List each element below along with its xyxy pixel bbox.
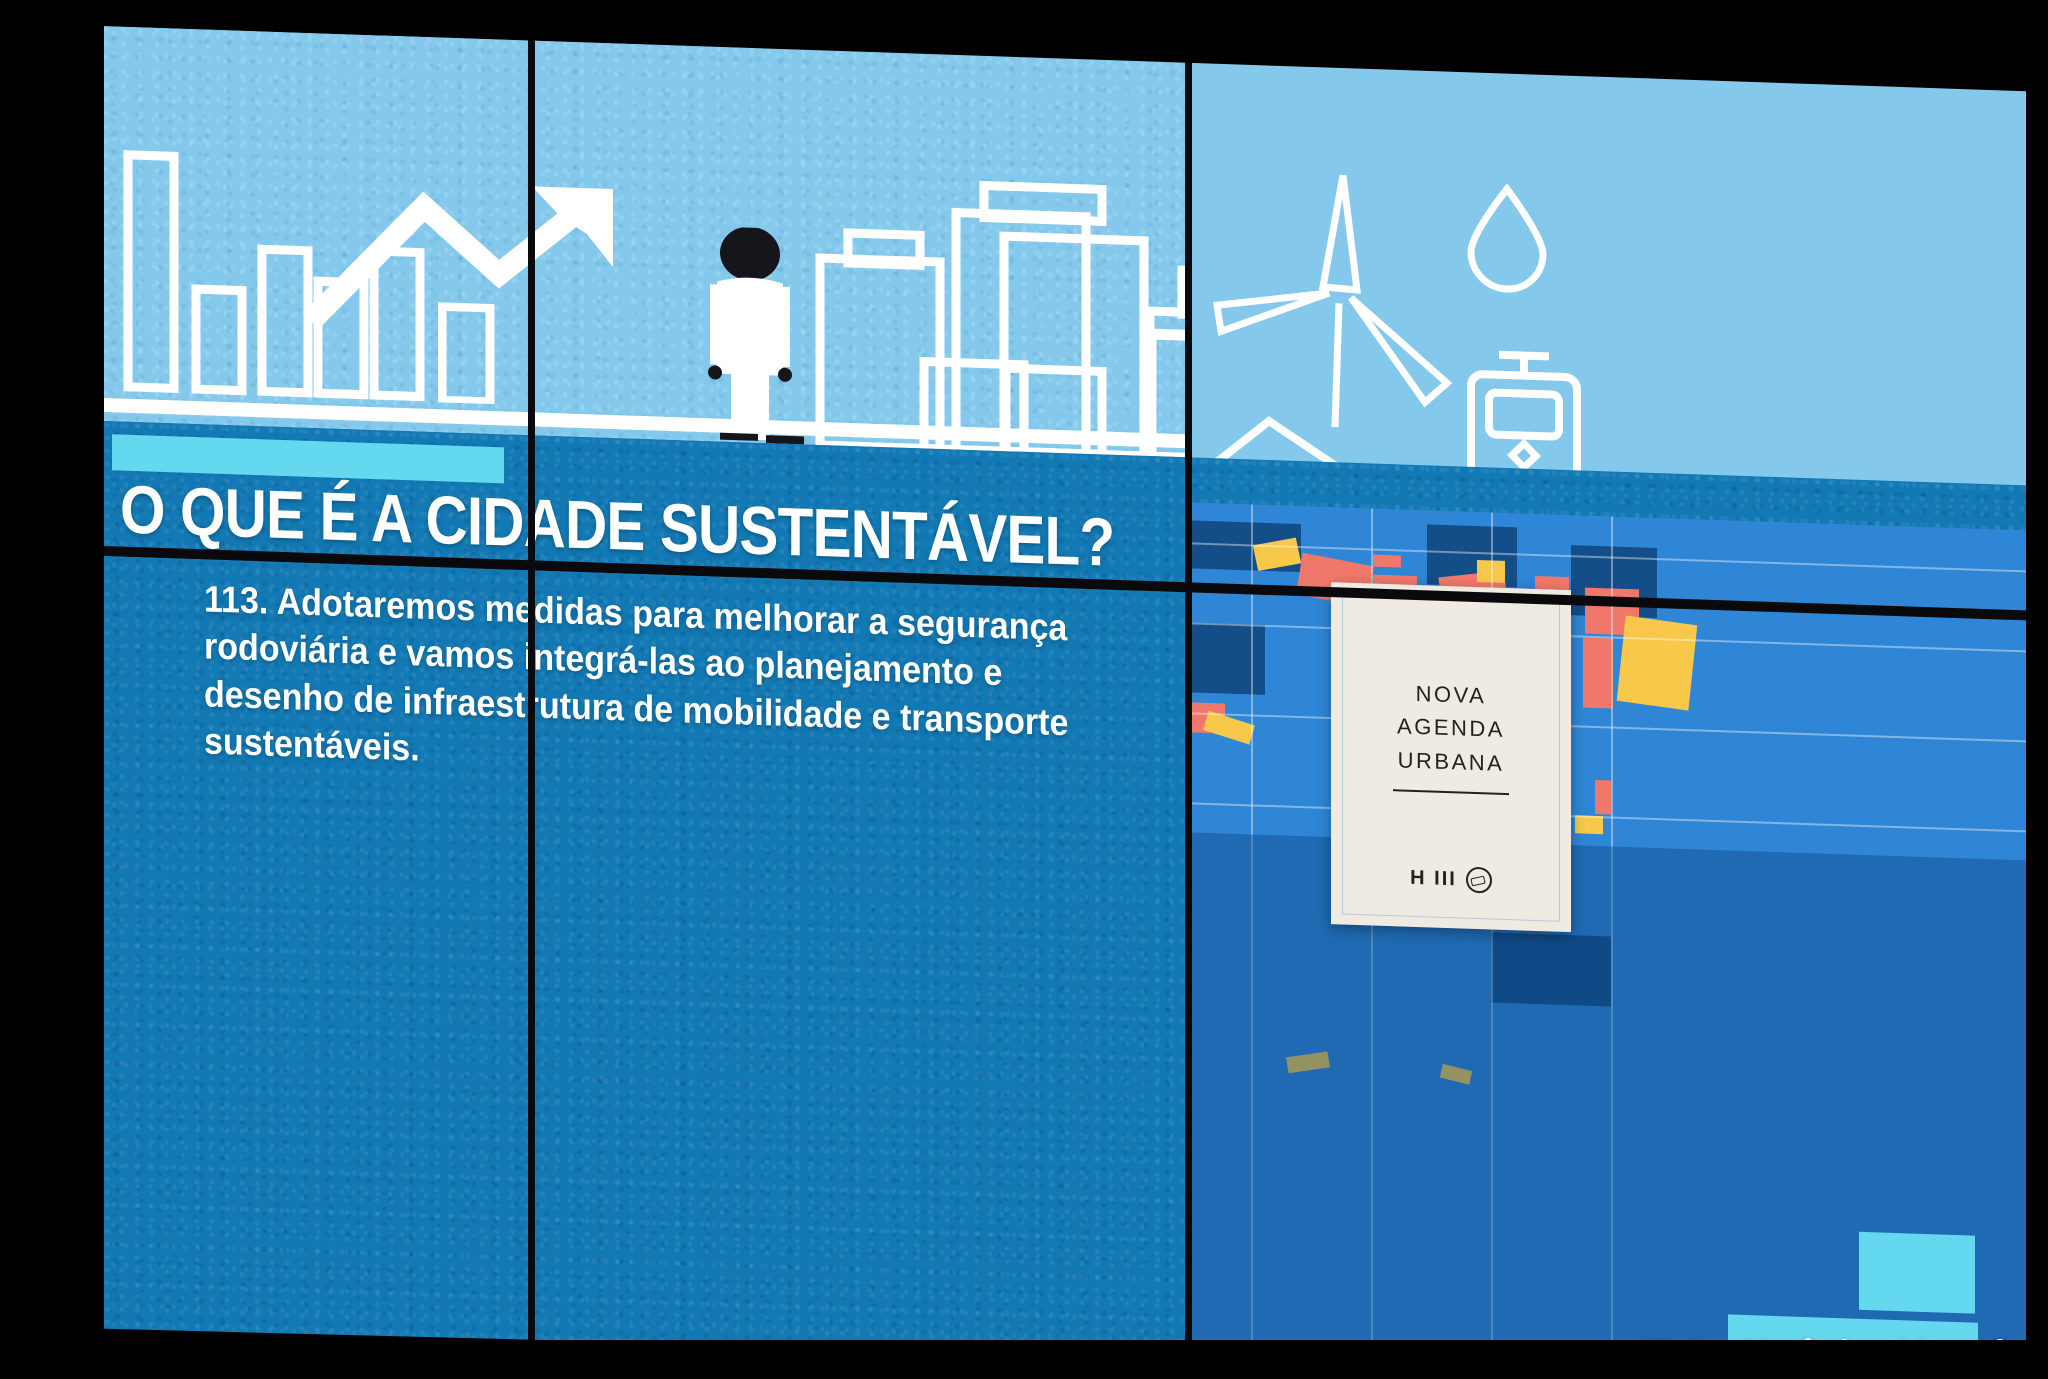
wall-screen-content: O QUE É A CIDADE SUSTENTÁVEL? 113. Adota… (104, 26, 2026, 1379)
map-patch (1617, 615, 1698, 710)
map-patch (1583, 638, 1613, 709)
mask-top-wedge (0, 0, 2048, 200)
map-patch (1595, 780, 1611, 815)
book-title: NOVA AGENDA URBANA (1331, 674, 1571, 782)
map-patch (1373, 555, 1401, 568)
map-patch (1535, 576, 1569, 590)
mask-left (0, 0, 104, 1379)
map-street (1191, 712, 2026, 742)
screenshot-root: O QUE É A CIDADE SUSTENTÁVEL? 113. Adota… (0, 0, 2048, 1379)
slide-paragraph: 113. Adotaremos medidas para melhorar a … (204, 575, 1124, 795)
map-patch (1575, 815, 1603, 834)
panel-seam-vertical-left (528, 40, 535, 1379)
person-light-icon (684, 225, 814, 444)
video-wall: O QUE É A CIDADE SUSTENTÁVEL? 113. Adota… (104, 26, 2026, 1379)
mask-right (2026, 0, 2048, 1379)
panel-seam-vertical-right (1185, 62, 1192, 1379)
un-emblem-icon (1466, 867, 1492, 894)
book-cover-nova-agenda-urbana: NOVA AGENDA URBANA H III (1331, 582, 1571, 932)
habitat-iii-label: H III (1410, 866, 1457, 891)
mask-bottom-wedge (0, 1240, 2048, 1379)
map-patch (1191, 622, 1265, 694)
